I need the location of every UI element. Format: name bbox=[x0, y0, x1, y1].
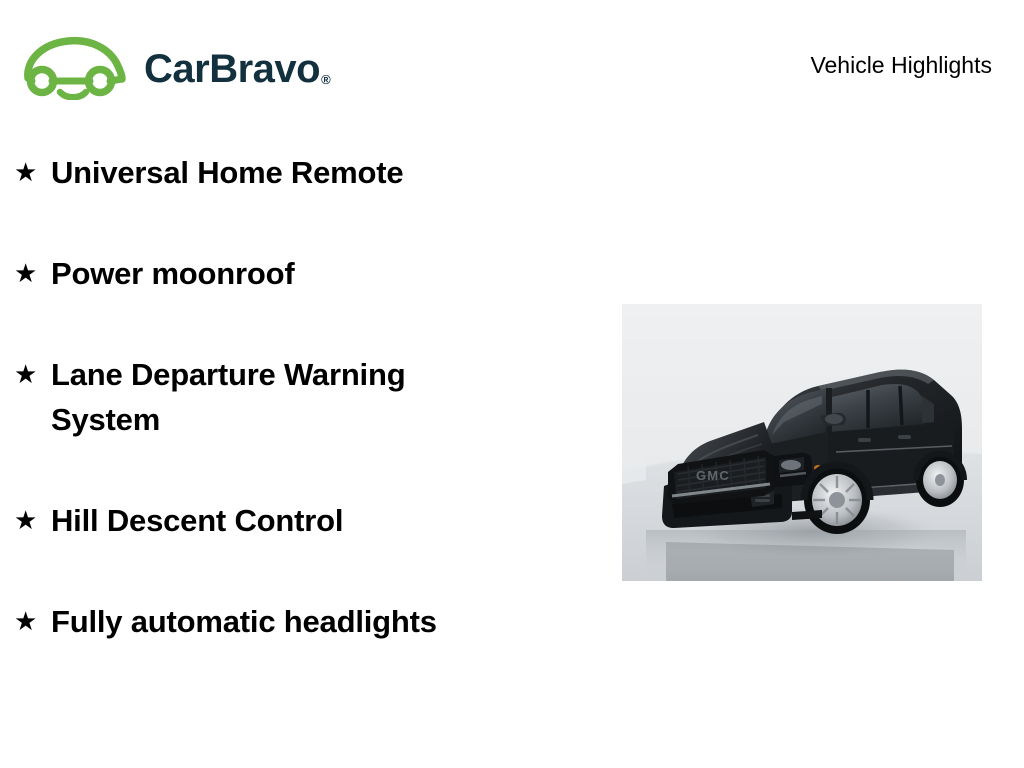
brand-logo[interactable]: CarBravo® bbox=[18, 34, 329, 100]
highlight-label: Fully automatic headlights bbox=[51, 599, 437, 644]
highlight-label: Universal Home Remote bbox=[51, 150, 403, 195]
car-outline-icon bbox=[18, 34, 134, 100]
list-item: ★ Lane Departure Warning System bbox=[0, 352, 600, 442]
page-title: Vehicle Highlights bbox=[810, 52, 992, 80]
star-bullet-icon: ★ bbox=[14, 599, 36, 643]
page-header: CarBravo® Vehicle Highlights bbox=[0, 0, 1024, 120]
highlight-label: Power moonroof bbox=[51, 251, 294, 296]
star-bullet-icon: ★ bbox=[14, 352, 36, 396]
list-item: ★ Power moonroof bbox=[0, 251, 600, 296]
list-item: ★ Hill Descent Control bbox=[0, 498, 600, 543]
star-bullet-icon: ★ bbox=[14, 251, 36, 295]
vehicle-photo[interactable]: GMC bbox=[622, 304, 982, 581]
brand-trademark-symbol: ® bbox=[321, 72, 330, 87]
gmc-badge-text: GMC bbox=[696, 468, 730, 483]
highlight-label: Hill Descent Control bbox=[51, 498, 343, 543]
list-item: ★ Fully automatic headlights bbox=[0, 599, 600, 644]
brand-name-text: CarBravo bbox=[144, 47, 320, 91]
vehicle-highlights-list: ★ Universal Home Remote ★ Power moonroof… bbox=[0, 150, 600, 644]
brand-wordmark: CarBravo® bbox=[144, 49, 329, 89]
highlight-label: Lane Departure Warning System bbox=[51, 352, 521, 442]
star-bullet-icon: ★ bbox=[14, 498, 36, 542]
star-bullet-icon: ★ bbox=[14, 150, 36, 194]
list-item: ★ Universal Home Remote bbox=[0, 150, 600, 195]
